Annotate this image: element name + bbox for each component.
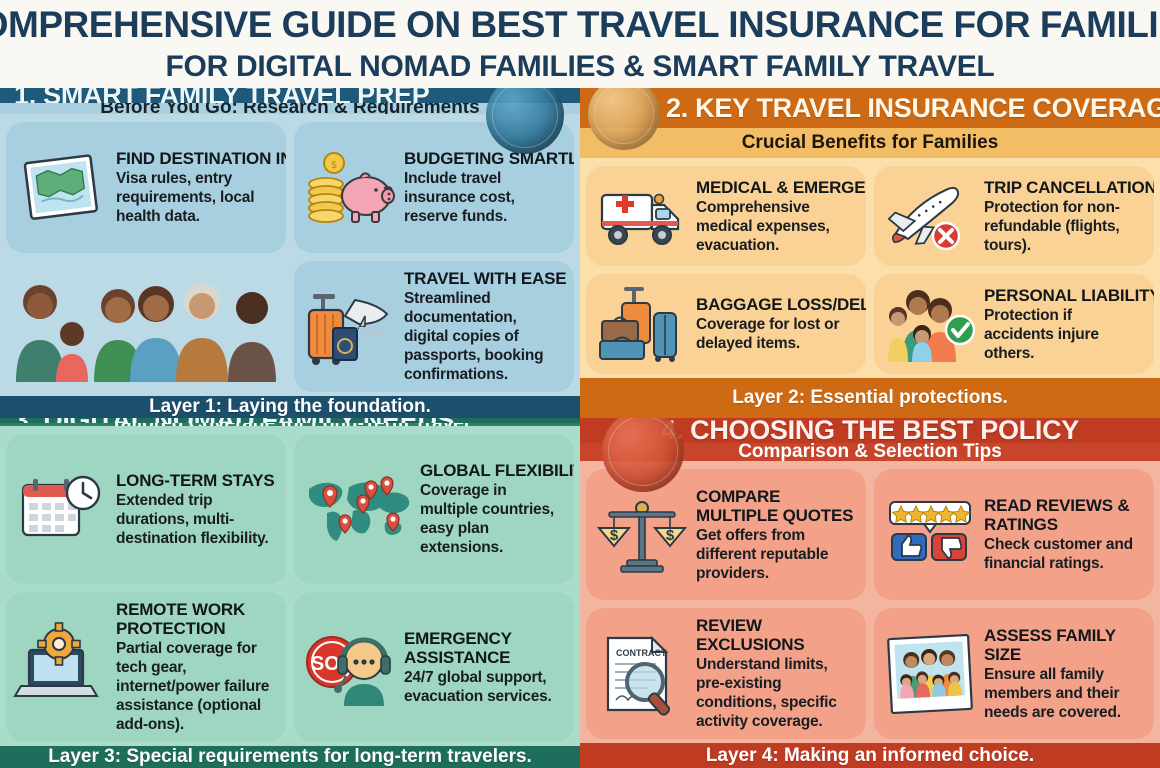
- card-title: COMPARE MULTIPLE QUOTES: [696, 487, 856, 525]
- card-title: REMOTE WORK PROTECTION: [116, 600, 276, 638]
- card-assess-family-size[interactable]: ASSESS FAMILY SIZE Ensure all family mem…: [874, 608, 1154, 739]
- card-text: MEDICAL & EMERGENCY Comprehensive medica…: [696, 178, 856, 255]
- card-description: 24/7 global support, evacuation services…: [404, 668, 564, 706]
- card-text: ASSESS FAMILY SIZE Ensure all family mem…: [984, 626, 1144, 722]
- quadrant-2-heading: 2. KEY TRAVEL INSURANCE COVERAGE: [666, 93, 1160, 124]
- svg-text:$: $: [331, 160, 337, 171]
- quadrant-choosing-the-best-policy: 4. CHOOSING THE BEST POLICY Comparison &…: [580, 418, 1160, 768]
- card-title: ASSESS FAMILY SIZE: [984, 626, 1144, 664]
- quadrant-1-footer: Layer 1: Laying the foundation.: [0, 396, 580, 418]
- card-travel-with-ease[interactable]: TRAVEL WITH EASE Streamlined documentati…: [294, 261, 574, 392]
- card-text: FIND DESTINATION INFO Visa rules, entry …: [116, 149, 276, 226]
- contract-magnifier-icon: CONTRACT: [596, 633, 688, 715]
- quadrant-2-footer-text: Layer 2: Essential protections.: [732, 387, 1008, 409]
- piggy-bank-coins-icon: $: [304, 147, 396, 229]
- quadrant-3-subheading: Tailored Coverage for Long-Term Travel: [111, 423, 469, 426]
- card-medical-emergency[interactable]: MEDICAL & EMERGENCY Comprehensive medica…: [586, 166, 866, 266]
- card-title: GLOBAL FLEXIBILITY: [420, 461, 564, 480]
- card-text: TRIP CANCELLATION Protection for non-ref…: [984, 178, 1144, 255]
- card-title: BUDGETING SMARTLY: [404, 149, 564, 168]
- airplane-cancel-icon: [884, 175, 976, 257]
- page-title-line-1: COMPREHENSIVE GUIDE ON BEST TRAVEL INSUR…: [0, 2, 1160, 48]
- quadrant-3-subheader: Tailored Coverage for Long-Term Travel: [0, 423, 580, 426]
- laptop-gear-icon: [16, 626, 108, 708]
- card-title: LONG-TERM STAYS: [116, 471, 276, 490]
- card-description: Understand limits, pre-existing conditio…: [696, 655, 856, 731]
- quadrant-3-footer-text: Layer 3: Special requirements for long-t…: [48, 746, 532, 768]
- card-description: Comprehensive medical expenses, evacuati…: [696, 198, 856, 255]
- card-family-illustration: [6, 261, 286, 392]
- card-description: Check customer and financial ratings.: [984, 535, 1144, 573]
- card-title: PERSONAL LIABILITY: [984, 286, 1144, 305]
- luggage-stack-icon: [596, 283, 688, 365]
- quadrant-3-cards: LONG-TERM STAYS Extended trip durations,…: [0, 426, 580, 746]
- quadrant-2-header: 2. KEY TRAVEL INSURANCE COVERAGE: [580, 88, 1160, 128]
- card-description: Coverage in multiple countries, easy pla…: [420, 481, 564, 557]
- card-find-destination-info[interactable]: FIND DESTINATION INFO Visa rules, entry …: [6, 122, 286, 253]
- card-title: TRAVEL WITH EASE: [404, 269, 564, 288]
- page-title-line-2: FOR DIGITAL NOMAD FAMILIES & SMART FAMIL…: [166, 48, 995, 86]
- card-title: FIND DESTINATION INFO: [116, 149, 276, 168]
- card-text: REMOTE WORK PROTECTION Partial coverage …: [116, 600, 276, 734]
- card-text: EMERGENCY ASSISTANCE 24/7 global support…: [404, 629, 564, 706]
- card-title: READ REVIEWS & RATINGS: [984, 496, 1144, 534]
- page-title-bar: COMPREHENSIVE GUIDE ON BEST TRAVEL INSUR…: [0, 0, 1160, 88]
- card-text: BAGGAGE LOSS/DELAY Coverage for lost or …: [696, 295, 856, 353]
- quadrant-1-footer-text: Layer 1: Laying the foundation.: [149, 396, 431, 418]
- quadrant-4-cards: $ $ COMPARE MULTIPLE QUOTES Get offers f…: [580, 461, 1160, 743]
- card-description: Protection if accidents injure others.: [984, 306, 1144, 363]
- quadrant-1-heading: 1. SMART FAMILY TRAVEL PREP: [14, 88, 429, 103]
- quadrant-2-cards: MEDICAL & EMERGENCY Comprehensive medica…: [580, 158, 1160, 378]
- card-description: Visa rules, entry requirements, local he…: [116, 169, 276, 226]
- card-read-reviews-ratings[interactable]: READ REVIEWS & RATINGS Check customer an…: [874, 469, 1154, 600]
- family-polaroid-icon: [884, 633, 976, 715]
- quadrant-4-footer: Layer 4: Making an informed choice.: [580, 743, 1160, 768]
- card-description: Streamlined documentation, digital copie…: [404, 289, 564, 384]
- card-title: TRIP CANCELLATION: [984, 178, 1144, 197]
- card-personal-liability[interactable]: PERSONAL LIABILITY Protection if acciden…: [874, 274, 1154, 374]
- card-baggage-loss-delay[interactable]: BAGGAGE LOSS/DELAY Coverage for lost or …: [586, 274, 866, 374]
- card-description: Ensure all family members and their need…: [984, 665, 1144, 722]
- quadrant-2-footer: Layer 2: Essential protections.: [580, 378, 1160, 418]
- suitcase-airplane-passport-icon: [304, 286, 396, 368]
- quadrant-2-subheading: Crucial Benefits for Families: [742, 132, 999, 154]
- card-trip-cancellation[interactable]: TRIP CANCELLATION Protection for non-ref…: [874, 166, 1154, 266]
- sos-headset-icon: SOS: [304, 626, 396, 708]
- quadrant-3-footer: Layer 3: Special requirements for long-t…: [0, 746, 580, 768]
- quadrant-1-subheading: Before You Go: Research & Requirements: [100, 103, 479, 114]
- card-title: BAGGAGE LOSS/DELAY: [696, 295, 856, 314]
- scales-dollar-icon: $ $: [596, 494, 688, 576]
- card-text: BUDGETING SMARTLY Include travel insuran…: [404, 149, 564, 226]
- card-text: COMPARE MULTIPLE QUOTES Get offers from …: [696, 487, 856, 583]
- card-title: EMERGENCY ASSISTANCE: [404, 629, 564, 667]
- card-description: Partial coverage for tech gear, internet…: [116, 639, 276, 734]
- card-long-term-stays[interactable]: LONG-TERM STAYS Extended trip durations,…: [6, 434, 286, 584]
- card-text: TRAVEL WITH EASE Streamlined documentati…: [404, 269, 564, 384]
- stars-thumbs-icon: [884, 494, 976, 576]
- map-document-icon: [16, 147, 108, 229]
- quadrant-1-cards: FIND DESTINATION INFO Visa rules, entry …: [0, 114, 580, 396]
- quadrant-smart-family-travel-prep: 1. SMART FAMILY TRAVEL PREP Before You G…: [0, 88, 580, 418]
- infographic-page: COMPREHENSIVE GUIDE ON BEST TRAVEL INSUR…: [0, 0, 1160, 768]
- card-title: REVIEW EXCLUSIONS: [696, 616, 856, 654]
- card-text: LONG-TERM STAYS Extended trip durations,…: [116, 471, 276, 548]
- card-remote-work-protection[interactable]: REMOTE WORK PROTECTION Partial coverage …: [6, 592, 286, 742]
- quadrant-4-footer-text: Layer 4: Making an informed choice.: [706, 745, 1034, 767]
- card-emergency-assistance[interactable]: SOS EMERGENCY ASSISTANCE: [294, 592, 574, 742]
- ambulance-icon: [596, 175, 688, 257]
- card-review-exclusions[interactable]: CONTRACT REVIEW EXCLUSIONS Under: [586, 608, 866, 739]
- family-photo-icon: [6, 261, 286, 392]
- quadrant-digital-nomad-family-needs: 3. DIGITAL NOMAD FAMILY NEEDS Tailored C…: [0, 418, 580, 768]
- calendar-clock-icon: [16, 468, 108, 550]
- card-global-flexibility[interactable]: GLOBAL FLEXIBILITY Coverage in multiple …: [294, 434, 574, 584]
- quadrant-grid: 1. SMART FAMILY TRAVEL PREP Before You G…: [0, 88, 1160, 768]
- card-text: REVIEW EXCLUSIONS Understand limits, pre…: [696, 616, 856, 731]
- card-text: READ REVIEWS & RATINGS Check customer an…: [984, 496, 1144, 573]
- quadrant-4-heading: 4. CHOOSING THE BEST POLICY: [661, 418, 1079, 443]
- quadrant-2-subheader: Crucial Benefits for Families: [580, 128, 1160, 158]
- svg-text:$: $: [666, 527, 675, 544]
- family-check-icon: [884, 283, 976, 365]
- card-text: PERSONAL LIABILITY Protection if acciden…: [984, 286, 1144, 363]
- card-text: GLOBAL FLEXIBILITY Coverage in multiple …: [420, 461, 564, 557]
- svg-text:CONTRACT: CONTRACT: [616, 648, 667, 658]
- quadrant-4-subheading: Comparison & Selection Tips: [738, 443, 1002, 462]
- world-map-pins-icon: [304, 468, 412, 550]
- card-description: Extended trip durations, multi-destinati…: [116, 491, 276, 548]
- quadrant-key-travel-insurance-coverage: 2. KEY TRAVEL INSURANCE COVERAGE Crucial…: [580, 88, 1160, 418]
- card-description: Include travel insurance cost, reserve f…: [404, 169, 564, 226]
- card-description: Coverage for lost or delayed items.: [696, 315, 856, 353]
- svg-text:$: $: [610, 527, 619, 544]
- card-title: MEDICAL & EMERGENCY: [696, 178, 856, 197]
- card-description: Protection for non-refundable (flights, …: [984, 198, 1144, 255]
- card-description: Get offers from different reputable prov…: [696, 526, 856, 583]
